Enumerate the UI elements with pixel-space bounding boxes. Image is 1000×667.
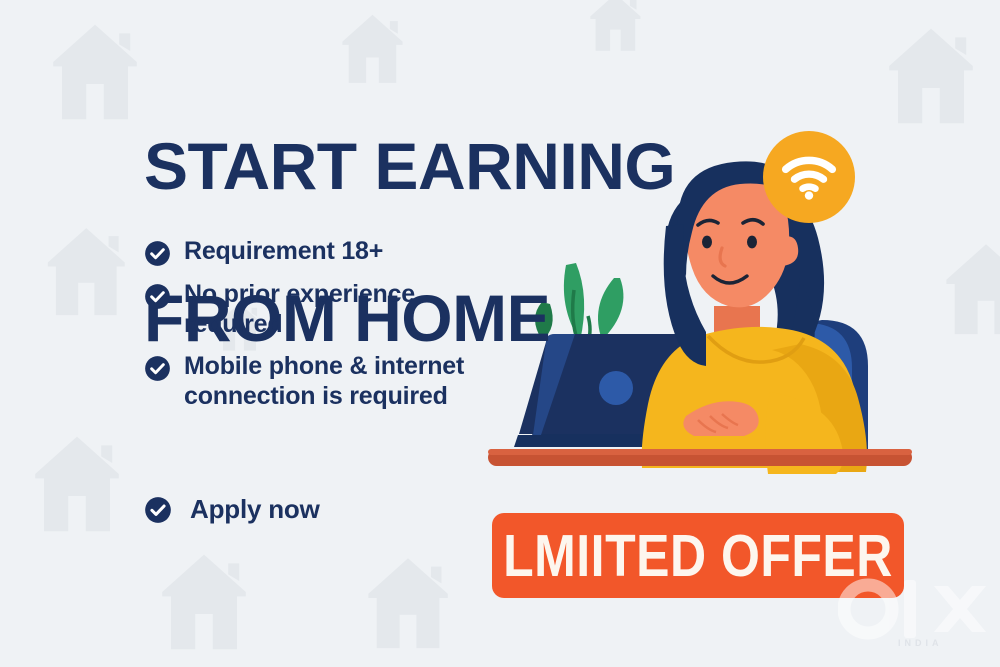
check-circle-icon xyxy=(144,355,171,382)
wifi-badge xyxy=(763,131,855,223)
house-icon xyxy=(36,18,154,128)
wifi-icon xyxy=(781,154,837,201)
house-icon xyxy=(580,0,651,56)
check-circle-icon xyxy=(144,240,171,267)
apply-now-cta[interactable]: Apply now xyxy=(144,494,320,525)
list-item: Requirement 18+ xyxy=(144,236,544,267)
headline-line-1: START EARNING xyxy=(144,128,675,204)
house-icon xyxy=(352,552,464,657)
check-circle-icon xyxy=(144,496,172,524)
limited-offer-banner[interactable]: LMIITED OFFER xyxy=(492,513,904,598)
house-icon xyxy=(930,238,1000,343)
list-item-label: No prior experience required xyxy=(184,279,415,339)
list-item-label: Mobile phone & internet connection is re… xyxy=(184,351,464,411)
house-icon xyxy=(32,222,141,323)
desk xyxy=(488,449,912,466)
list-item: Mobile phone & internet connection is re… xyxy=(144,351,544,411)
list-item: No prior experience required xyxy=(144,279,544,339)
check-circle-icon xyxy=(144,283,171,310)
olx-watermark-sub: INDIA xyxy=(898,638,943,648)
apply-now-label: Apply now xyxy=(190,494,320,525)
house-icon xyxy=(872,22,990,132)
list-item-label: Requirement 18+ xyxy=(184,236,383,266)
house-icon xyxy=(18,430,136,540)
house-icon xyxy=(145,548,263,658)
ad-banner: START EARNING FROM HOME Requirement 18+ … xyxy=(0,0,1000,667)
limited-offer-label: LMIITED OFFER xyxy=(503,521,893,589)
feature-list: Requirement 18+ No prior experience requ… xyxy=(144,236,544,423)
